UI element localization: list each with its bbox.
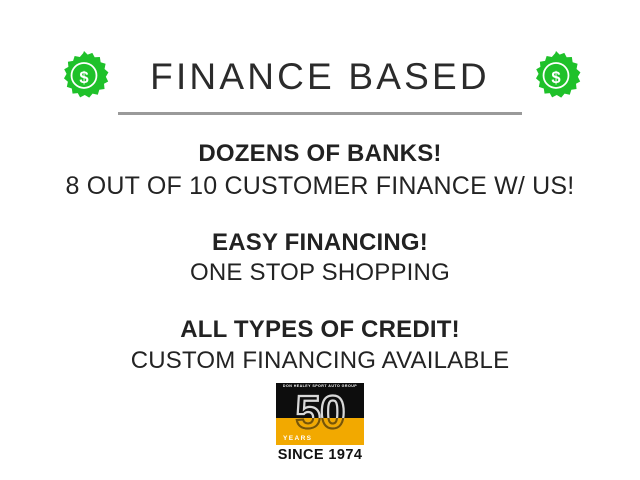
gear-dollar-icon: $ (58, 50, 110, 102)
title-divider (118, 112, 522, 115)
page-title: FINANCE BASED (150, 58, 490, 95)
block-subline: ONE STOP SHOPPING (0, 258, 640, 289)
svg-text:$: $ (79, 68, 89, 87)
block-subline: CUSTOM FINANCING AVAILABLE (0, 346, 640, 377)
years-label: YEARS (283, 436, 312, 443)
since-label: SINCE 1974 (278, 448, 363, 463)
block-headline: DOZENS OF BANKS! (0, 139, 640, 170)
message-block: ALL TYPES OF CREDIT! CUSTOM FINANCING AV… (0, 315, 640, 376)
block-headline: ALL TYPES OF CREDIT! (0, 315, 640, 346)
block-headline: EASY FINANCING! (0, 228, 640, 259)
message-block: EASY FINANCING! ONE STOP SHOPPING (0, 228, 640, 289)
dealer-logo: DON HEALEY SPORT AUTO GROUP 50 50 YEARS … (0, 383, 640, 463)
block-subline: 8 OUT OF 10 CUSTOMER FINANCE W/ US! (0, 170, 640, 202)
anniversary-number-orange: 50 (276, 418, 364, 435)
finance-based-slide: $ FINANCE BASED $ DOZENS OF BANKS! 8 OUT… (0, 0, 640, 480)
header: $ FINANCE BASED $ (0, 42, 640, 110)
message-blocks: DOZENS OF BANKS! 8 OUT OF 10 CUSTOMER FI… (0, 139, 640, 377)
message-block: DOZENS OF BANKS! 8 OUT OF 10 CUSTOMER FI… (0, 139, 640, 202)
gear-dollar-icon: $ (530, 50, 582, 102)
anniversary-badge: DON HEALEY SPORT AUTO GROUP 50 50 YEARS (276, 383, 364, 445)
svg-text:$: $ (551, 68, 561, 87)
